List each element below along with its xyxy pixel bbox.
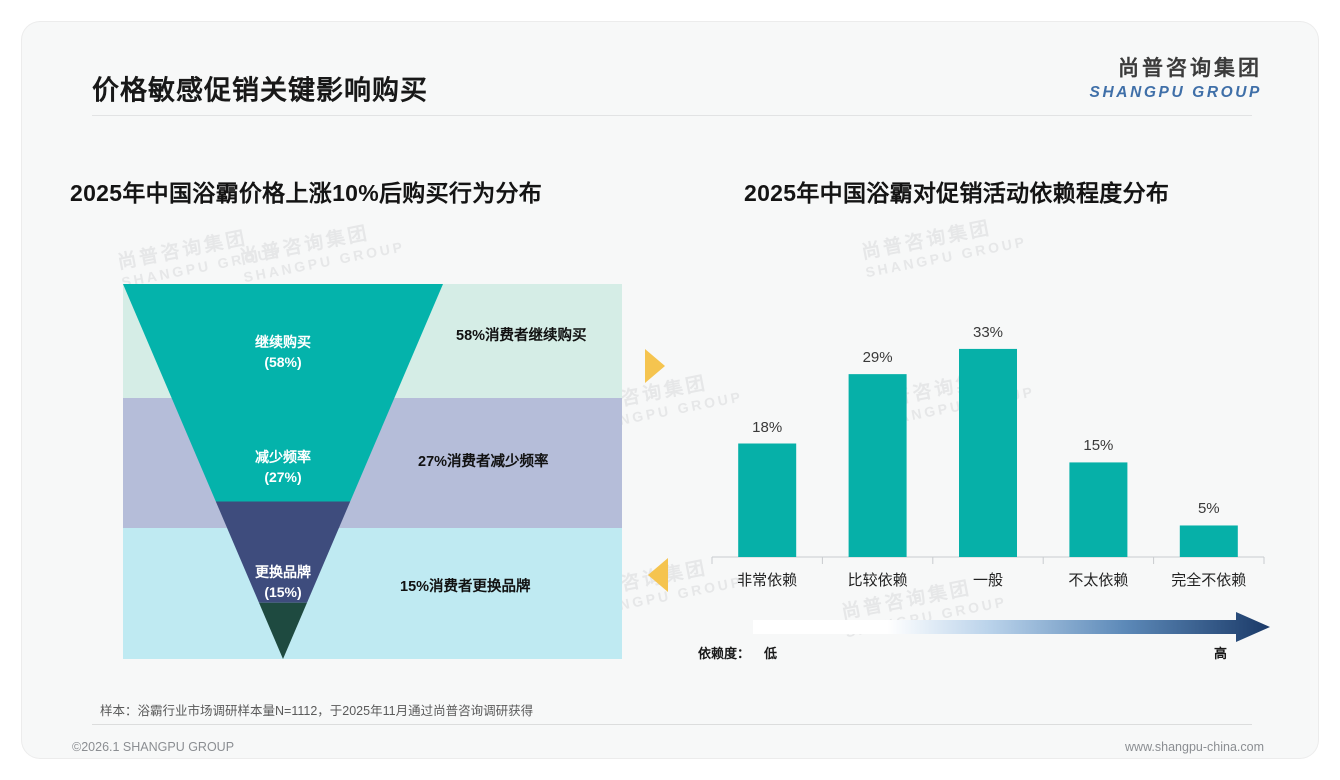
funnel-band-annotation: 27%消费者减少频率 (418, 450, 549, 471)
watermark-cn: 尚普咨询集团 (860, 212, 1025, 265)
bar[interactable] (1069, 462, 1127, 557)
bar-value-label: 29% (863, 349, 893, 366)
bar-category-label: 完全不依赖 (1171, 569, 1246, 590)
funnel-segment-label: 减少频率(27%) (223, 447, 343, 488)
brand-logo: 尚普咨询集团 SHANGPU GROUP (1090, 58, 1262, 101)
slide-card: 价格敏感促销关键影响购买 尚普咨询集团 SHANGPU GROUP 2025年中… (22, 22, 1318, 758)
funnel-band-annotation: 15%消费者更换品牌 (400, 575, 531, 596)
bar[interactable] (738, 444, 796, 558)
bar-value-label: 33% (973, 324, 1003, 341)
legend-low-label: 低 (764, 643, 777, 662)
sample-footnote: 样本：浴霸行业市场调研样本量N=1112，于2025年11月通过尚普咨询调研获得 (100, 700, 533, 719)
bar-value-label: 5% (1198, 500, 1220, 517)
page-title: 价格敏感促销关键影响购买 (92, 69, 428, 108)
slide-canvas: 价格敏感促销关键影响购买 尚普咨询集团 SHANGPU GROUP 2025年中… (0, 0, 1340, 780)
bar-category-label: 一般 (973, 569, 1003, 590)
legend-high-label: 高 (1214, 643, 1227, 662)
bar-category-label: 不太依赖 (1068, 569, 1128, 590)
watermark: 尚普咨询集团 SHANGPU GROUP (860, 212, 1028, 281)
funnel-chart: 继续购买(58%)减少频率(27%)更换品牌(15%)58%消费者继续购买27%… (100, 262, 660, 667)
bar-category-label: 比较依赖 (848, 569, 908, 590)
bar-chart: 18%非常依赖29%比较依赖33%一般15%不太依赖5%完全不依赖 (698, 272, 1278, 602)
bar[interactable] (849, 374, 907, 557)
bar-value-label: 18% (752, 419, 782, 436)
left-chart-title: 2025年中国浴霸价格上涨10%后购买行为分布 (70, 174, 542, 208)
legend-caption: 依赖度： (698, 643, 750, 662)
funnel-band (123, 528, 622, 659)
bar-category-label: 非常依赖 (737, 569, 797, 590)
bar-value-label: 15% (1083, 437, 1113, 454)
footer-website[interactable]: www.shangpu-china.com (1125, 740, 1264, 754)
funnel-segment-label: 继续购买(58%) (223, 332, 343, 373)
bar-chart-graphics (698, 272, 1278, 602)
footer-divider (92, 724, 1252, 725)
funnel-band-annotation: 58%消费者继续购买 (456, 324, 587, 345)
slide-header: 价格敏感促销关键影响购买 尚普咨询集团 SHANGPU GROUP (22, 22, 1318, 118)
funnel-segment-label: 更换品牌(15%) (223, 562, 343, 603)
arrow-right-icon (644, 348, 666, 384)
header-divider (92, 115, 1252, 116)
right-chart-title: 2025年中国浴霸对促销活动依赖程度分布 (744, 174, 1169, 208)
bar[interactable] (959, 349, 1017, 557)
arrow-left-icon (647, 557, 669, 593)
footer-copyright: ©2026.1 SHANGPU GROUP (72, 740, 234, 754)
brand-name-cn: 尚普咨询集团 (1090, 58, 1262, 79)
bar[interactable] (1180, 525, 1238, 557)
funnel-graphics (100, 262, 660, 667)
dependency-gradient-legend: 依赖度： 低 高 (698, 610, 1278, 670)
gradient-arrow-icon (698, 610, 1278, 644)
brand-name-en: SHANGPU GROUP (1090, 85, 1262, 101)
